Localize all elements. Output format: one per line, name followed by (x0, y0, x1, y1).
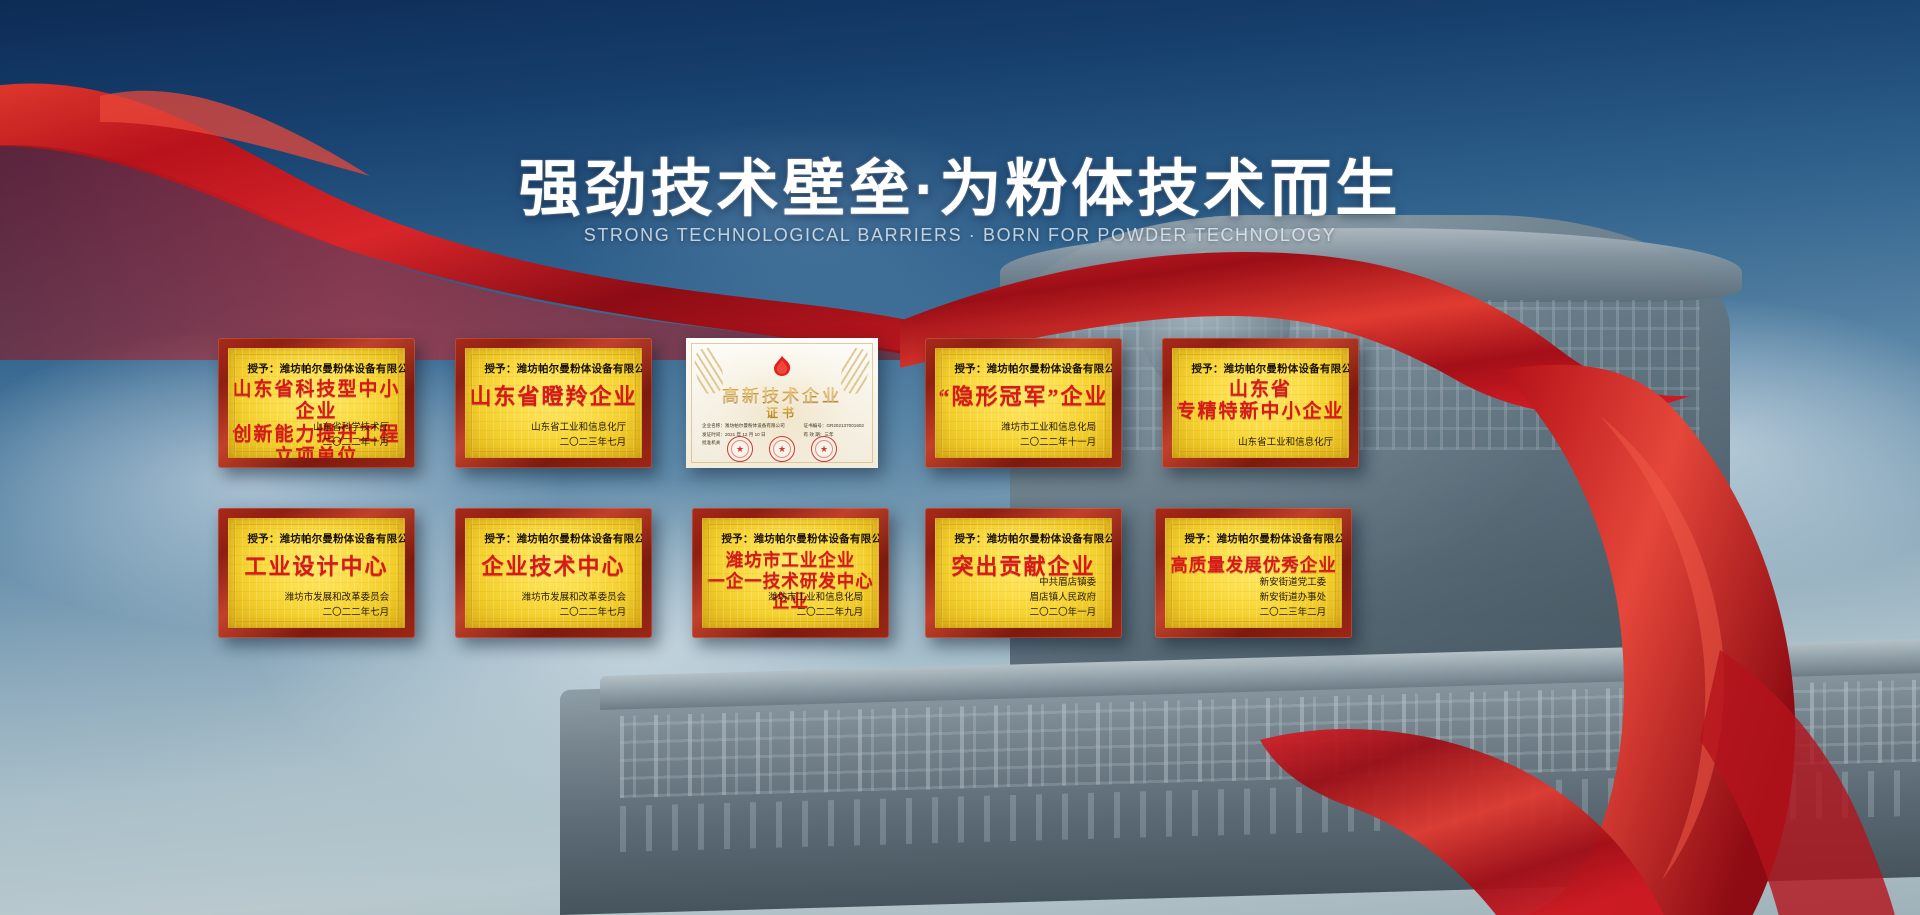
plaque-award-to: 授予：潍坊帕尔曼粉体设备有限公司 (247, 531, 405, 546)
plaque-award-to: 授予：潍坊帕尔曼粉体设备有限公司 (247, 361, 405, 376)
plaque-date: 二〇二〇年一月 (1030, 606, 1097, 621)
plaque-date: 二〇二二年十月 (313, 436, 389, 451)
plaque-title-line: 工业设计中心 (228, 554, 405, 580)
high-tech-enterprise-certificate[interactable]: 高新技术企业 证书 企业名称：潍坊帕尔曼粉体设备有限公司 发证时间：2021 年… (686, 338, 878, 468)
plaque-footer: 潍坊市发展和改革委员会 二〇二二年七月 (285, 591, 390, 620)
certificate-subtitle: 证书 (686, 404, 878, 421)
official-seal-icon (811, 436, 837, 462)
plaque-title: 工业设计中心 (228, 554, 405, 580)
plaque-certificate[interactable]: 授予：潍坊帕尔曼粉体设备有限公司 工业设计中心 潍坊市发展和改革委员会 二〇二二… (218, 508, 415, 638)
plaque-certificate[interactable]: 授予：潍坊帕尔曼粉体设备有限公司 突出贡献企业 中共眉店镇委 眉店镇人民政府 二… (925, 508, 1122, 638)
bronze-ding-pattern (1040, 300, 1700, 450)
plaque-title: 企业技术中心 (465, 554, 642, 580)
plaque-certificate[interactable]: 授予：潍坊帕尔曼粉体设备有限公司 企业技术中心 潍坊市发展和改革委员会 二〇二二… (455, 508, 652, 638)
plaque-issuer: 山东省工业和信息化厅 (1238, 436, 1333, 451)
plaque-face: 授予：潍坊帕尔曼粉体设备有限公司 “隐形冠军”企业 潍坊市工业和信息化局 二〇二… (935, 348, 1112, 458)
plaque-title-line: 潍坊市工业企业 (702, 550, 879, 571)
banner-stage: 强劲技术壁垒·为粉体技术而生 STRONG TECHNOLOGICAL BARR… (0, 0, 1920, 915)
plaque-award-to: 授予：潍坊帕尔曼粉体设备有限公司 (721, 531, 879, 546)
page-title: 强劲技术壁垒·为粉体技术而生 (0, 138, 1920, 228)
plaque-award-to: 授予：潍坊帕尔曼粉体设备有限公司 (954, 361, 1112, 376)
plaque-title: 山东省 专精特新中小企业 (1172, 379, 1349, 424)
plaque-face: 授予：潍坊帕尔曼粉体设备有限公司 企业技术中心 潍坊市发展和改革委员会 二〇二二… (465, 518, 642, 628)
plaque-certificate[interactable]: 授予：潍坊帕尔曼粉体设备有限公司 “隐形冠军”企业 潍坊市工业和信息化局 二〇二… (925, 338, 1122, 468)
plaque-title-line: 高质量发展优秀企业 (1165, 555, 1342, 576)
plaque-issuer: 潍坊市工业和信息化局 (768, 591, 863, 606)
plaque-issuer: 山东省科学技术厅 (313, 421, 389, 436)
plaque-date: 二〇二三年七月 (531, 436, 626, 451)
plaque-award-to: 授予：潍坊帕尔曼粉体设备有限公司 (1184, 531, 1342, 546)
page-subtitle: STRONG TECHNOLOGICAL BARRIERS · BORN FOR… (0, 225, 1920, 246)
plaque-footer: 潍坊市发展和改革委员会 二〇二二年七月 (522, 591, 627, 620)
plaque-title: 山东省瞪羚企业 (465, 384, 642, 410)
certificate-seals (686, 436, 878, 462)
plaque-issuer: 潍坊市工业和信息化局 (1001, 421, 1096, 436)
plaque-title-line: 山东省科技型中小企业 (228, 379, 405, 424)
plaque-certificate[interactable]: 授予：潍坊帕尔曼粉体设备有限公司 山东省瞪羚企业 山东省工业和信息化厅 二〇二三… (455, 338, 652, 468)
plaque-footer: 山东省工业和信息化厅 (1238, 436, 1333, 451)
flame-emblem-icon (771, 356, 793, 380)
plaque-certificate[interactable]: 授予：潍坊帕尔曼粉体设备有限公司 潍坊市工业企业 一企一技术研发中心企业 潍坊市… (692, 508, 889, 638)
certificate-field: 证书编号：GR202137001602 (803, 422, 864, 431)
plaque-issuer: 山东省工业和信息化厅 (531, 421, 626, 436)
plaque-title: “隐形冠军”企业 (935, 384, 1112, 410)
plaque-footer: 山东省工业和信息化厅 二〇二三年七月 (531, 421, 626, 450)
plaque-issuer: 中共眉店镇委 眉店镇人民政府 (1030, 576, 1097, 605)
plaque-award-to: 授予：潍坊帕尔曼粉体设备有限公司 (484, 531, 642, 546)
plaque-face: 授予：潍坊帕尔曼粉体设备有限公司 突出贡献企业 中共眉店镇委 眉店镇人民政府 二… (935, 518, 1112, 628)
plaque-footer: 潍坊市工业和信息化局 二〇二二年十一月 (1001, 421, 1096, 450)
certificate-field: 企业名称：潍坊帕尔曼粉体设备有限公司 (702, 422, 785, 431)
official-seal-icon (727, 436, 753, 462)
plaque-date: 二〇二三年二月 (1260, 606, 1327, 621)
plaque-award-to: 授予：潍坊帕尔曼粉体设备有限公司 (1191, 361, 1349, 376)
plaque-date: 二〇二二年七月 (285, 606, 390, 621)
plaque-title-line: 专精特新中小企业 (1172, 401, 1349, 423)
plaque-title: 高质量发展优秀企业 (1165, 555, 1342, 576)
plaque-issuer: 新安街道党工委 新安街道办事处 (1260, 576, 1327, 605)
plaque-date: 二〇二二年九月 (768, 606, 863, 621)
plaque-title-line: 企业技术中心 (465, 554, 642, 580)
official-seal-icon (769, 436, 795, 462)
plaque-face: 授予：潍坊帕尔曼粉体设备有限公司 潍坊市工业企业 一企一技术研发中心企业 潍坊市… (702, 518, 879, 628)
plaque-certificate[interactable]: 授予：潍坊帕尔曼粉体设备有限公司 山东省科技型中小企业 创新能力提升工程立项单位… (218, 338, 415, 468)
plaque-face: 授予：潍坊帕尔曼粉体设备有限公司 工业设计中心 潍坊市发展和改革委员会 二〇二二… (228, 518, 405, 628)
plaque-award-to: 授予：潍坊帕尔曼粉体设备有限公司 (954, 531, 1112, 546)
plaque-issuer: 潍坊市发展和改革委员会 (285, 591, 390, 606)
plaque-face: 授予：潍坊帕尔曼粉体设备有限公司 山东省瞪羚企业 山东省工业和信息化厅 二〇二三… (465, 348, 642, 458)
plaque-date: 二〇二二年十一月 (1001, 436, 1096, 451)
plaque-face: 授予：潍坊帕尔曼粉体设备有限公司 高质量发展优秀企业 新安街道党工委 新安街道办… (1165, 518, 1342, 628)
plaque-footer: 中共眉店镇委 眉店镇人民政府 二〇二〇年一月 (1030, 576, 1097, 620)
plaque-issuer: 潍坊市发展和改革委员会 (522, 591, 627, 606)
plaque-award-to: 授予：潍坊帕尔曼粉体设备有限公司 (484, 361, 642, 376)
plaque-face: 授予：潍坊帕尔曼粉体设备有限公司 山东省科技型中小企业 创新能力提升工程立项单位… (228, 348, 405, 458)
plaque-face: 授予：潍坊帕尔曼粉体设备有限公司 山东省 专精特新中小企业 山东省工业和信息化厅 (1172, 348, 1349, 458)
plaque-date: 二〇二二年七月 (522, 606, 627, 621)
plaque-footer: 新安街道党工委 新安街道办事处 二〇二三年二月 (1260, 576, 1327, 620)
plaque-title-line: “隐形冠军”企业 (935, 384, 1112, 410)
plaque-title-line: 山东省瞪羚企业 (465, 384, 642, 410)
plaque-certificate[interactable]: 授予：潍坊帕尔曼粉体设备有限公司 高质量发展优秀企业 新安街道党工委 新安街道办… (1155, 508, 1352, 638)
plaque-footer: 潍坊市工业和信息化局 二〇二二年九月 (768, 591, 863, 620)
plaque-footer: 山东省科学技术厅 二〇二二年十月 (313, 421, 389, 450)
plaque-title-line: 山东省 (1172, 379, 1349, 401)
plaque-certificate[interactable]: 授予：潍坊帕尔曼粉体设备有限公司 山东省 专精特新中小企业 山东省工业和信息化厅 (1162, 338, 1359, 468)
